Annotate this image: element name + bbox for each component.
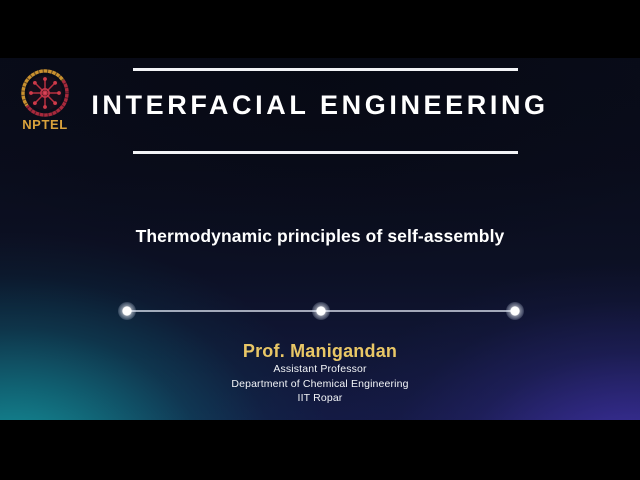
title-rule-top <box>133 68 518 71</box>
letterbox-top <box>0 0 640 58</box>
nptel-mandala-icon <box>17 67 73 121</box>
lecture-topic: Thermodynamic principles of self-assembl… <box>0 226 640 247</box>
nptel-logo: NPTEL <box>12 67 78 143</box>
circle-node-icon <box>312 302 330 320</box>
presenter-block: Prof. Manigandan Assistant Professor Dep… <box>0 340 640 406</box>
presenter-designation: Assistant Professor <box>0 362 640 377</box>
node-divider <box>118 302 524 320</box>
circle-node-icon <box>506 302 524 320</box>
course-title: INTERFACIAL ENGINEERING <box>0 90 640 121</box>
title-slide: NPTEL INTERFACIAL ENGINEERING Thermodyna… <box>0 58 640 420</box>
presenter-name: Prof. Manigandan <box>0 340 640 362</box>
circle-node-icon <box>118 302 136 320</box>
nptel-wordmark: NPTEL <box>12 117 78 132</box>
title-rule-bottom <box>133 151 518 154</box>
presenter-department: Department of Chemical Engineering <box>0 377 640 392</box>
video-frame: NPTEL INTERFACIAL ENGINEERING Thermodyna… <box>0 0 640 480</box>
letterbox-bottom <box>0 420 640 480</box>
presenter-institute: IIT Ropar <box>0 391 640 406</box>
